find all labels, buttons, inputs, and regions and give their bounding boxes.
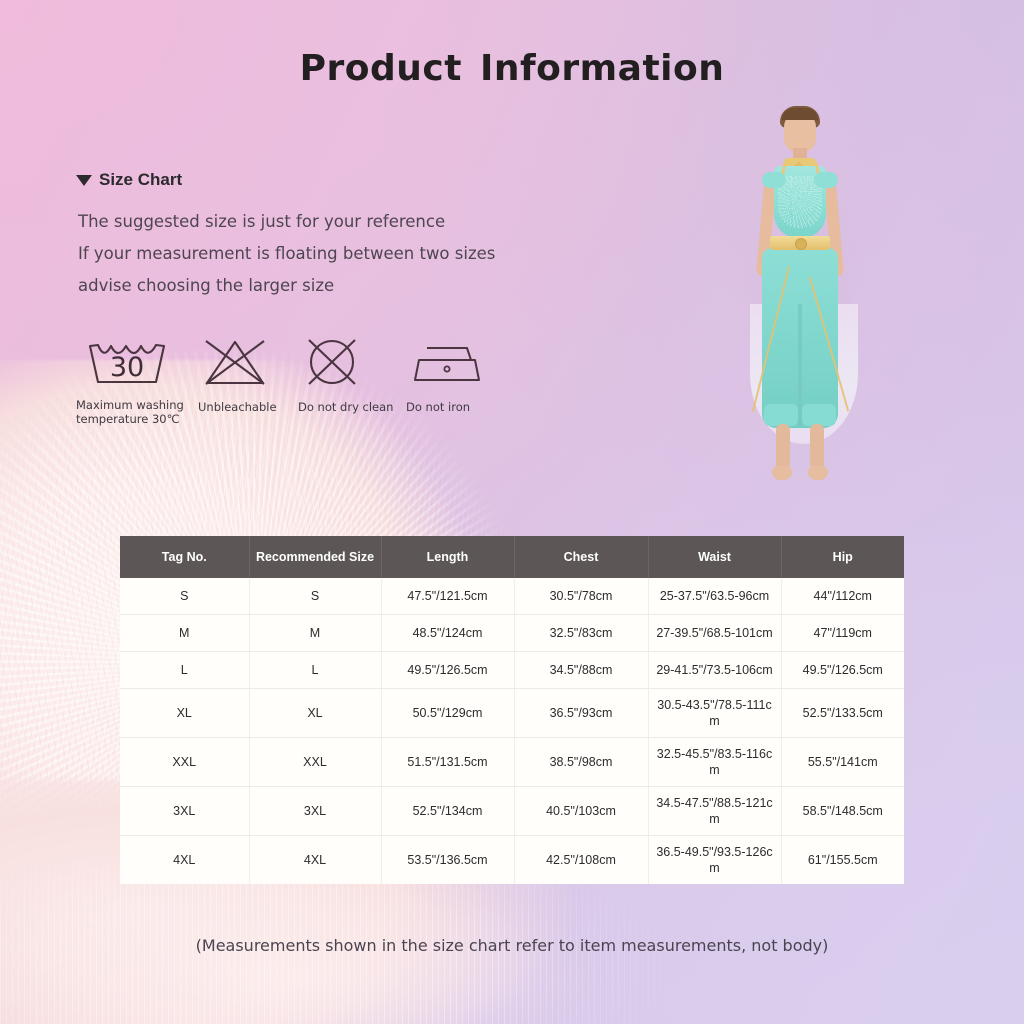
care-item-iron (411, 336, 483, 388)
page-title-word-1: Product (300, 48, 462, 89)
cell-tag: 4XL (120, 836, 249, 885)
measurement-disclaimer: (Measurements shown in the size chart re… (0, 936, 1024, 955)
cell-waist: 29-41.5"/73.5-106cm (648, 652, 781, 689)
cell-recommended: 3XL (249, 787, 381, 836)
care-label-wash: Maximum washing temperature 30℃ (76, 398, 206, 426)
cell-waist: 30.5-43.5"/78.5-111cm (648, 689, 781, 738)
no-dry-clean-circle-icon (301, 336, 363, 388)
cell-hip: 58.5"/148.5cm (781, 787, 904, 836)
size-chart-heading-label: Size Chart (99, 170, 182, 190)
costume-cuff-left (764, 404, 798, 426)
cell-waist: 32.5-45.5"/83.5-116cm (648, 738, 781, 787)
cell-length: 53.5"/136.5cm (381, 836, 514, 885)
cell-tag: M (120, 615, 249, 652)
size-chart-table-wrapper: Tag No. Recommended Size Length Chest Wa… (120, 536, 904, 884)
model-leg-left (776, 424, 790, 470)
cell-waist: 36.5-49.5"/93.5-126cm (648, 836, 781, 885)
cell-waist: 34.5-47.5"/88.5-121cm (648, 787, 781, 836)
cell-hip: 61"/155.5cm (781, 836, 904, 885)
care-label-wash-line2: temperature 30℃ (76, 412, 180, 426)
svg-text:30: 30 (110, 352, 144, 383)
cell-length: 51.5"/131.5cm (381, 738, 514, 787)
size-chart-table: Tag No. Recommended Size Length Chest Wa… (120, 536, 904, 884)
table-row: XXL XXL 51.5"/131.5cm 38.5"/98cm 32.5-45… (120, 738, 904, 787)
no-iron-icon (411, 336, 483, 388)
table-row: M M 48.5"/124cm 32.5"/83cm 27-39.5"/68.5… (120, 615, 904, 652)
size-chart-notes: The suggested size is just for your refe… (78, 206, 495, 302)
size-chart-note-3: advise choosing the larger size (78, 270, 495, 302)
cell-length: 47.5"/121.5cm (381, 578, 514, 615)
column-header-length: Length (381, 536, 514, 578)
cell-recommended: 4XL (249, 836, 381, 885)
cell-hip: 49.5"/126.5cm (781, 652, 904, 689)
cell-tag: XL (120, 689, 249, 738)
product-information-page: ProductInformation Size Chart The sugges… (0, 0, 1024, 1024)
cell-tag: 3XL (120, 787, 249, 836)
column-header-recommended-size: Recommended Size (249, 536, 381, 578)
column-header-hip: Hip (781, 536, 904, 578)
cell-recommended: XL (249, 689, 381, 738)
table-row: L L 49.5"/126.5cm 34.5"/88cm 29-41.5"/73… (120, 652, 904, 689)
table-row: XL XL 50.5"/129cm 36.5"/93cm 30.5-43.5"/… (120, 689, 904, 738)
cell-chest: 30.5"/78cm (514, 578, 648, 615)
cell-chest: 32.5"/83cm (514, 615, 648, 652)
costume-sleeve-right (814, 172, 838, 188)
cell-chest: 34.5"/88cm (514, 652, 648, 689)
cell-chest: 42.5"/108cm (514, 836, 648, 885)
model-leg-right (810, 424, 824, 470)
costume-belt-buckle (795, 238, 807, 250)
no-bleach-triangle-icon (201, 336, 269, 388)
page-title: ProductInformation (0, 48, 1024, 89)
size-chart-note-2: If your measurement is floating between … (78, 238, 495, 270)
model-hairline (782, 108, 818, 120)
cell-tag: S (120, 578, 249, 615)
cell-tag: L (120, 652, 249, 689)
cell-recommended: XXL (249, 738, 381, 787)
care-label-dry-clean: Do not dry clean (298, 400, 418, 414)
care-item-dry-clean (301, 336, 363, 388)
cell-chest: 36.5"/93cm (514, 689, 648, 738)
model-foot-left (772, 466, 792, 480)
cell-length: 52.5"/134cm (381, 787, 514, 836)
cell-hip: 47"/119cm (781, 615, 904, 652)
column-header-waist: Waist (648, 536, 781, 578)
care-item-wash: 30 (84, 336, 170, 388)
cell-chest: 38.5"/98cm (514, 738, 648, 787)
cell-hip: 55.5"/141cm (781, 738, 904, 787)
triangle-down-icon (76, 175, 92, 186)
table-row: 3XL 3XL 52.5"/134cm 40.5"/103cm 34.5-47.… (120, 787, 904, 836)
cell-recommended: L (249, 652, 381, 689)
cell-chest: 40.5"/103cm (514, 787, 648, 836)
cell-waist: 25-37.5"/63.5-96cm (648, 578, 781, 615)
cell-hip: 44"/112cm (781, 578, 904, 615)
cell-length: 49.5"/126.5cm (381, 652, 514, 689)
product-photo-model (700, 104, 900, 524)
care-item-bleach (201, 336, 269, 388)
table-row: S S 47.5"/121.5cm 30.5"/78cm 25-37.5"/63… (120, 578, 904, 615)
size-chart-heading: Size Chart (76, 170, 182, 190)
column-header-tag-no: Tag No. (120, 536, 249, 578)
cell-length: 50.5"/129cm (381, 689, 514, 738)
cell-recommended: M (249, 615, 381, 652)
cell-hip: 52.5"/133.5cm (781, 689, 904, 738)
table-row: 4XL 4XL 53.5"/136.5cm 42.5"/108cm 36.5-4… (120, 836, 904, 885)
size-chart-note-1: The suggested size is just for your refe… (78, 206, 495, 238)
column-header-chest: Chest (514, 536, 648, 578)
costume-cuff-right (802, 404, 836, 426)
wash-tub-30-icon: 30 (84, 336, 170, 388)
page-title-word-2: Information (480, 48, 724, 89)
model-foot-right (808, 466, 828, 480)
table-header-row: Tag No. Recommended Size Length Chest Wa… (120, 536, 904, 578)
cell-recommended: S (249, 578, 381, 615)
cell-length: 48.5"/124cm (381, 615, 514, 652)
costume-sleeve-left (762, 172, 786, 188)
care-label-wash-line1: Maximum washing (76, 398, 184, 412)
care-label-iron: Do not iron (406, 400, 516, 414)
cell-tag: XXL (120, 738, 249, 787)
cell-waist: 27-39.5"/68.5-101cm (648, 615, 781, 652)
care-label-bleach: Unbleachable (198, 400, 308, 414)
